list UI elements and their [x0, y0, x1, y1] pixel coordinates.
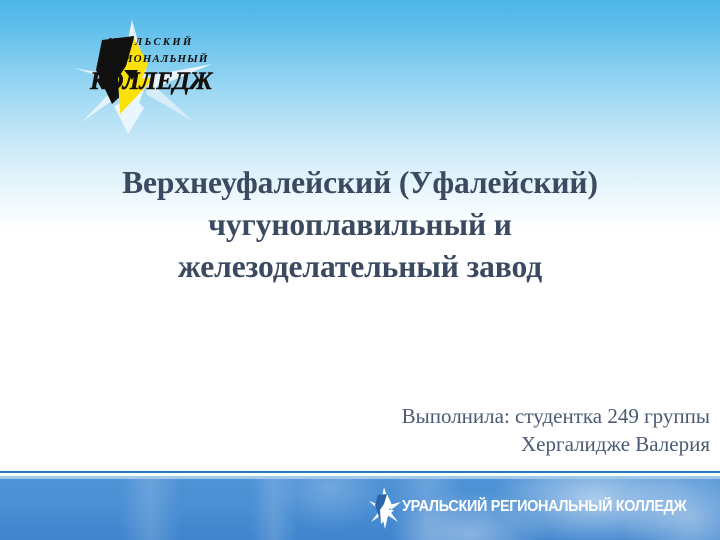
star-burst-icon — [74, 20, 212, 134]
presentation-slide: УРАЛЬСКИЙ РЕГИОНАЛЬНЫЙ КОЛЛЕДЖ Верхнеуфа… — [0, 0, 720, 540]
compass-star-icon — [368, 486, 402, 530]
title-line-3: железоделательный завод — [14, 246, 706, 288]
college-logo-emblem — [62, 18, 242, 136]
footer-college-name: УРАЛЬСКИЙ РЕГИОНАЛЬНЫЙ КОЛЛЕДЖ — [402, 498, 686, 516]
footer-logo-mark — [368, 486, 402, 530]
subtitle-line-1: Выполнила: студентка 249 группы — [150, 402, 710, 430]
footer-streak — [250, 479, 298, 540]
college-logo — [62, 18, 242, 136]
slide-subtitle: Выполнила: студентка 249 группы Хергалид… — [150, 402, 710, 458]
title-line-2: чугуноплавильный и — [14, 204, 706, 246]
footer-streak — [120, 479, 180, 540]
slide-title: Верхнеуфалейский (Уфалейский) чугуноплав… — [14, 162, 706, 288]
subtitle-line-2: Хергалидже Валерия — [150, 430, 710, 458]
title-line-1: Верхнеуфалейский (Уфалейский) — [14, 162, 706, 204]
